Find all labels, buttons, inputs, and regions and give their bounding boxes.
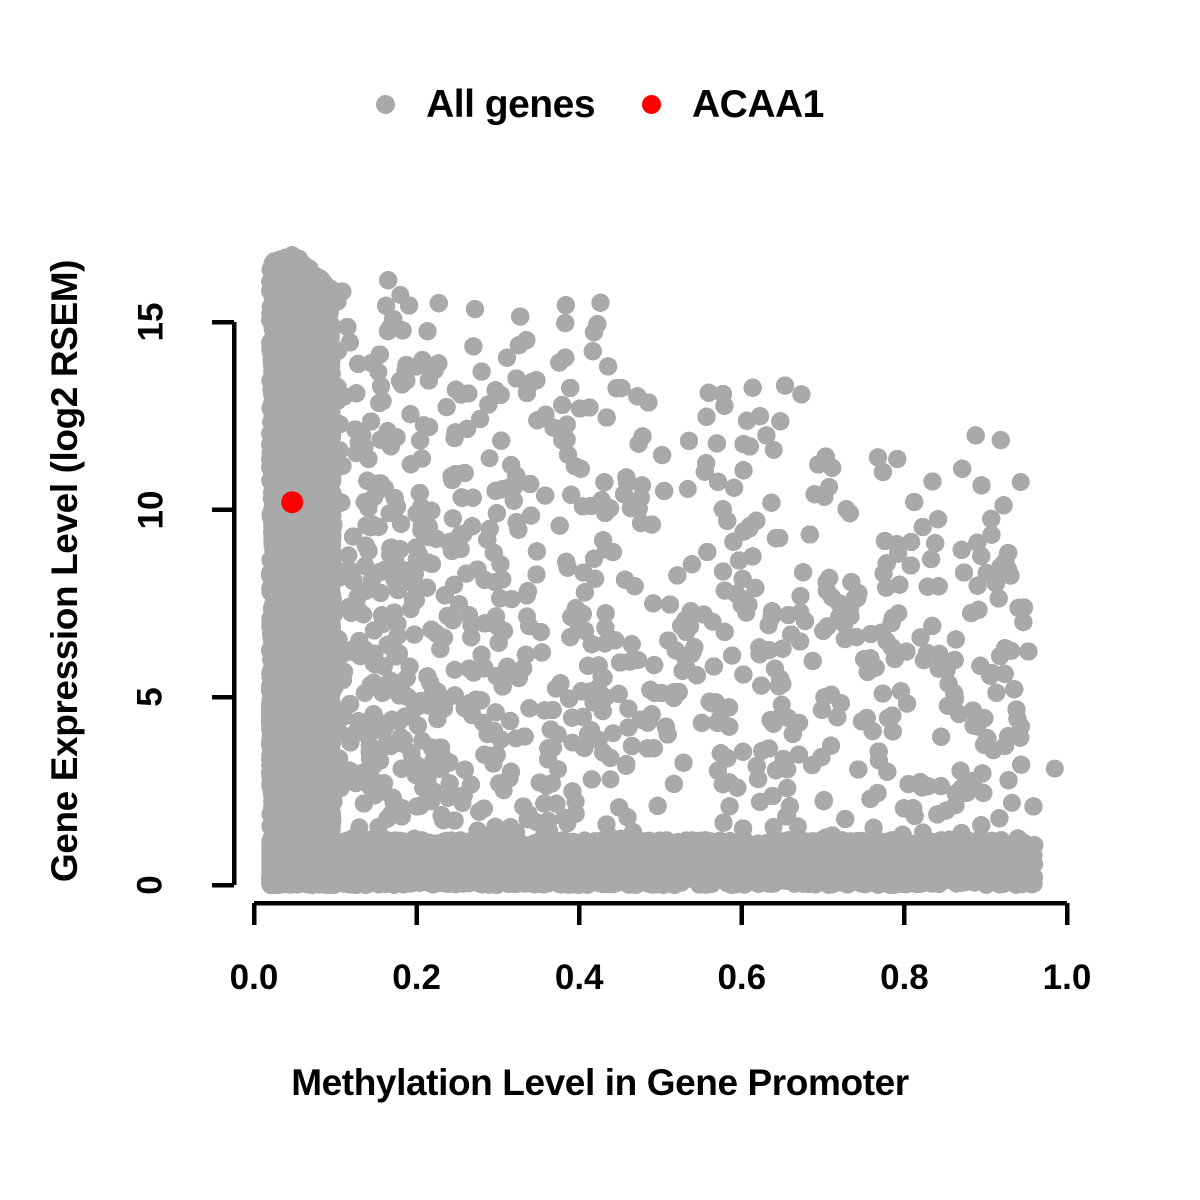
y-tick-label-text: 15	[131, 303, 171, 342]
y-tick-label: 5	[96, 674, 206, 720]
y-tick-label: 0	[96, 862, 206, 908]
x-tick-label: 0.4	[519, 958, 639, 998]
y-tick-label-text: 5	[131, 688, 171, 707]
scatter-plot-figure: All genes ACAA1 Gene Expression Level (l…	[0, 0, 1200, 1200]
x-tick-label: 0.0	[194, 958, 314, 998]
x-tick-label: 0.2	[357, 958, 477, 998]
plot-canvas	[0, 0, 1200, 1200]
plot-area	[0, 0, 1200, 1200]
highlight-point-group	[281, 491, 303, 513]
y-tick-label: 15	[96, 299, 206, 345]
y-tick-label-text: 10	[131, 490, 171, 529]
y-tick-label-text: 0	[131, 875, 171, 894]
x-tick-label: 1.0	[1007, 958, 1127, 998]
x-tick-label: 0.6	[682, 958, 802, 998]
y-tick-label: 10	[96, 487, 206, 533]
x-tick-label: 0.8	[844, 958, 964, 998]
